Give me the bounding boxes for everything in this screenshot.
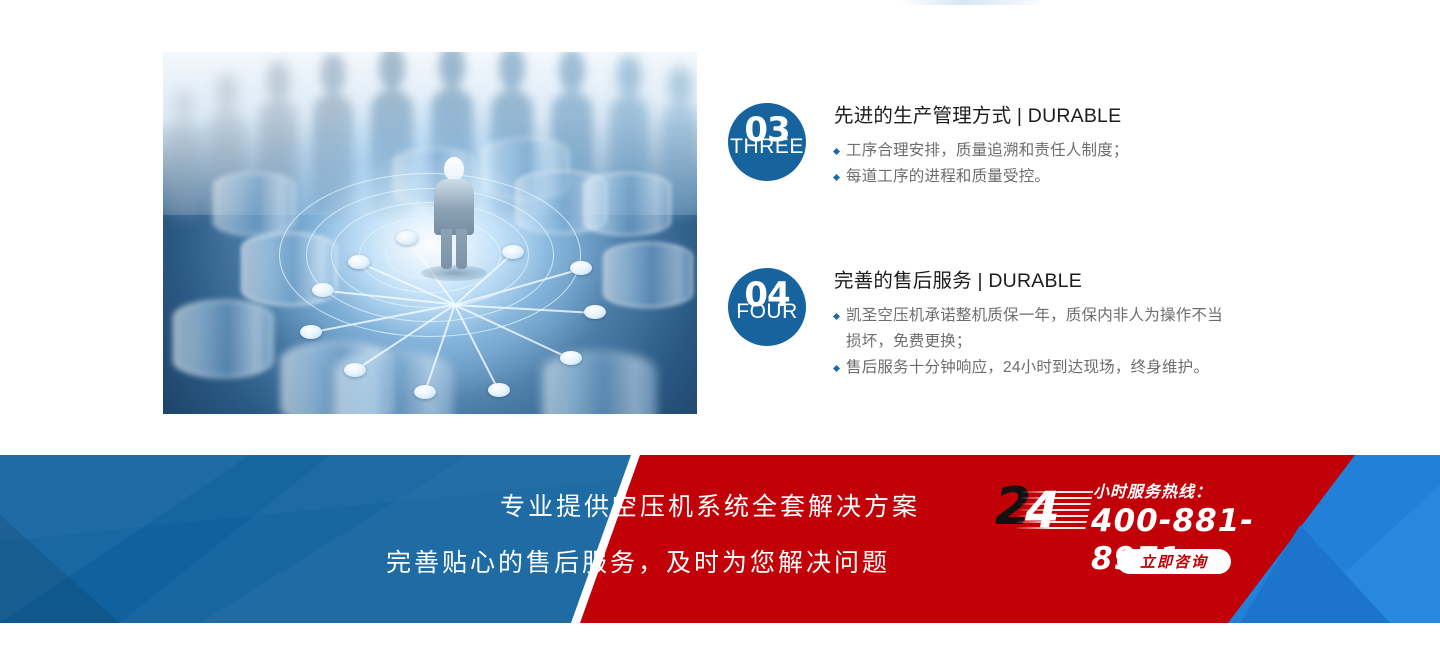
network-cylinder [173, 300, 273, 378]
network-node [488, 383, 510, 397]
network-node [344, 363, 366, 377]
network-node [414, 385, 436, 399]
network-cylinder [583, 172, 671, 236]
banner-slogan-line-2: 完善贴心的售后服务，及时为您解决问题 [0, 535, 920, 591]
feature-block-04: 04 FOUR 完善的售后服务 | DURABLE 凯圣空压机承诺整机质保一年，… [728, 268, 1236, 381]
figure-head [444, 157, 464, 181]
hotline-block: 2 4 小时服务热线： 400-881-8971 立即咨询 [995, 483, 1295, 603]
feature-word-04: FOUR [728, 300, 806, 324]
network-people-illustration [163, 52, 697, 414]
feature-item: 凯圣空压机承诺整机质保一年，质保内非人为操作不当损坏，免费更换； [834, 303, 1236, 355]
twentyfour-hours-logo: 2 4 [995, 483, 1087, 539]
figure-leg-right [456, 229, 467, 269]
hotline-label: 小时服务热线： [1093, 483, 1212, 503]
feature-list-04: 凯圣空压机承诺整机质保一年，质保内非人为操作不当损坏，免费更换； 售后服务十分钟… [834, 303, 1236, 381]
network-node [560, 351, 582, 365]
illustration-hub-rings [265, 165, 595, 345]
feature-title-03: 先进的生产管理方式 | DURABLE [834, 103, 1129, 129]
feature-body-04: 完善的售后服务 | DURABLE 凯圣空压机承诺整机质保一年，质保内非人为操作… [834, 268, 1236, 381]
feature-badge-04: 04 FOUR [728, 268, 806, 346]
banner-slogan: 专业提供空压机系统全套解决方案 完善贴心的售后服务，及时为您解决问题 [0, 479, 920, 591]
network-cylinder [603, 242, 693, 308]
features-section: 03 THREE 先进的生产管理方式 | DURABLE 工序合理安排，质量追溯… [0, 0, 1440, 450]
feature-list-03: 工序合理安排，质量追溯和责任人制度； 每道工序的进程和质量受控。 [834, 138, 1129, 190]
feature-item: 工序合理安排，质量追溯和责任人制度； [834, 138, 1129, 164]
feature-badge-03: 03 THREE [728, 103, 806, 181]
feature-word-03: THREE [728, 135, 806, 159]
figure-body [434, 179, 474, 235]
figure-shadow [421, 265, 487, 281]
banner-slogan-line-1: 专业提供空压机系统全套解决方案 [0, 479, 920, 535]
hotline-hours-digit-4: 4 [1025, 485, 1060, 535]
page-bottom-spacer [0, 623, 1440, 663]
feature-block-03: 03 THREE 先进的生产管理方式 | DURABLE 工序合理安排，质量追溯… [728, 103, 1129, 190]
illustration-central-figure [433, 157, 475, 269]
consult-now-button[interactable]: 立即咨询 [1117, 549, 1231, 574]
figure-leg-left [441, 229, 452, 269]
cta-banner: 专业提供空压机系统全套解决方案 完善贴心的售后服务，及时为您解决问题 2 4 小… [0, 455, 1440, 623]
network-cylinder [543, 352, 655, 414]
feature-item: 售后服务十分钟响应，24小时到达现场，终身维护。 [834, 355, 1236, 381]
feature-item: 每道工序的进程和质量受控。 [834, 164, 1129, 190]
feature-body-03: 先进的生产管理方式 | DURABLE 工序合理安排，质量追溯和责任人制度； 每… [834, 103, 1129, 190]
feature-title-04: 完善的售后服务 | DURABLE [834, 268, 1236, 294]
